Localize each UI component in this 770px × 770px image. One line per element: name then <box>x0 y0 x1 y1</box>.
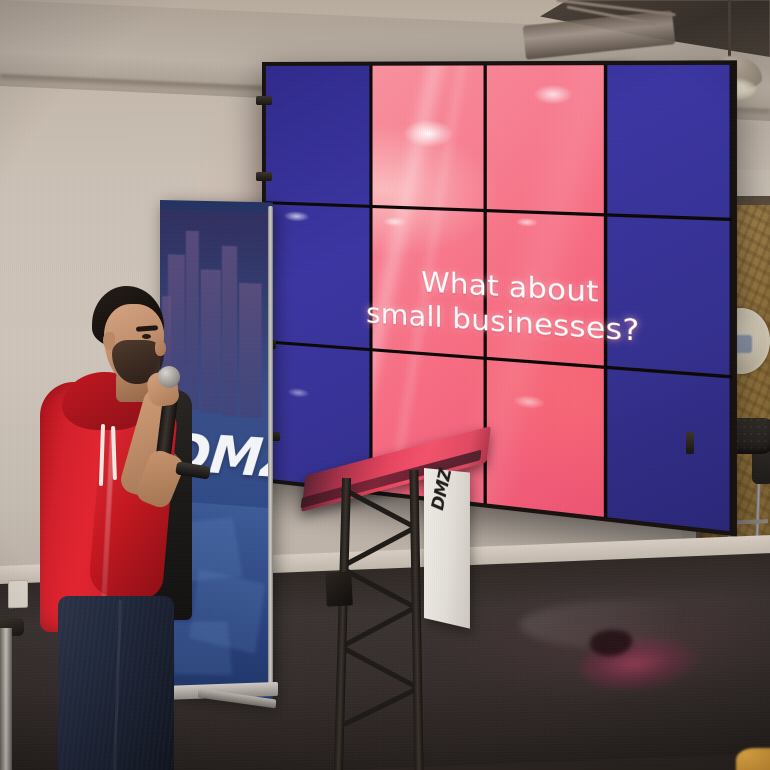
video-wall-panel-grid <box>266 65 732 532</box>
skyline-tower <box>222 246 237 417</box>
skyline-tower <box>239 283 261 418</box>
video-wall-panel <box>486 65 603 213</box>
video-wall-panel <box>486 360 603 517</box>
nose <box>155 340 166 356</box>
video-wall-panel <box>607 65 732 218</box>
video-wall-panel <box>607 369 732 532</box>
video-wall-panel <box>266 66 370 205</box>
video-wall-panel <box>373 208 483 356</box>
eye <box>142 334 151 339</box>
banner-shape <box>170 622 232 675</box>
foreground-table-leg <box>0 628 12 770</box>
skyline-tower <box>201 269 221 413</box>
video-wall-panel <box>266 204 370 347</box>
video-wall-panel <box>486 213 603 366</box>
lectern-clamp <box>325 571 353 606</box>
video-wall[interactable] <box>262 60 737 536</box>
video-wall-panel <box>373 65 483 209</box>
microphone-icon <box>158 366 180 388</box>
wall-mount-bracket <box>256 172 272 181</box>
skyline-tower <box>186 231 199 411</box>
wall-outlet <box>8 580 28 609</box>
video-wall-panel <box>607 217 732 375</box>
banner-support-pole <box>268 206 273 692</box>
pendant-rod <box>728 0 731 62</box>
foreground-object <box>736 748 770 770</box>
wall-mount-bracket <box>256 96 272 105</box>
photo-scene: What about small businesses? DMZ <box>0 0 770 770</box>
wall-mount-bracket <box>686 432 694 454</box>
